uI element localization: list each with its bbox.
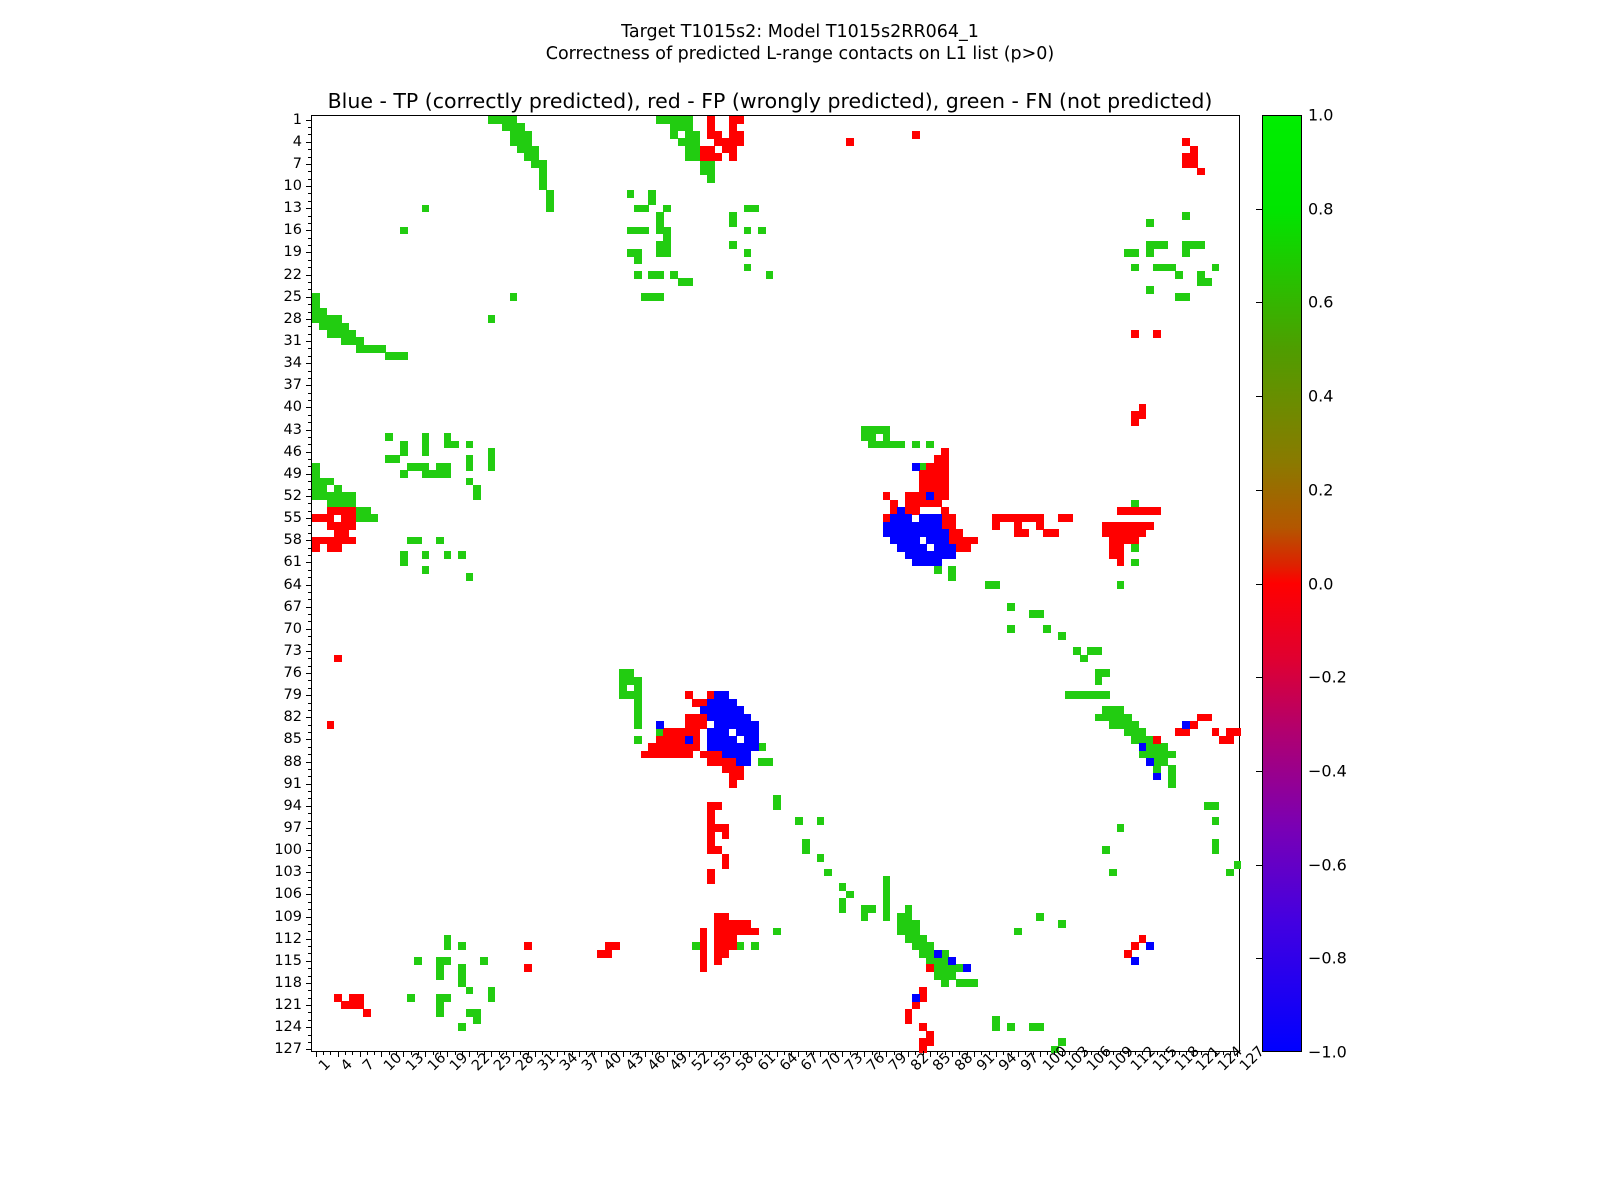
contact-cell-fn xyxy=(1058,632,1066,640)
y-tick xyxy=(306,651,312,652)
y-tick xyxy=(308,1020,312,1021)
x-tick xyxy=(352,1051,353,1055)
contact-cell-fp xyxy=(700,964,708,972)
contact-cell-tp xyxy=(934,559,942,567)
y-tick xyxy=(308,511,312,512)
x-tick xyxy=(330,1051,331,1055)
x-tick xyxy=(360,1051,361,1057)
contact-cell-fp xyxy=(1131,330,1139,338)
x-tick-label-text: 37 xyxy=(579,1063,590,1074)
colorbar-tick xyxy=(1256,209,1262,210)
contact-cell-fn xyxy=(926,441,934,449)
x-tick-label-text: 25 xyxy=(491,1063,502,1074)
contact-cell-fp xyxy=(678,743,686,751)
y-tick xyxy=(306,496,312,497)
contact-cell-fn xyxy=(466,987,474,995)
contact-cell-fn xyxy=(444,470,452,478)
contact-cell-fn xyxy=(444,942,452,950)
x-tick-label-text: 13 xyxy=(403,1063,414,1074)
contact-cell-fn xyxy=(1212,264,1220,272)
y-tick xyxy=(308,393,312,394)
contact-cell-fn xyxy=(1182,212,1190,220)
x-tick-label-text: 10 xyxy=(381,1063,392,1074)
contact-cell-fn xyxy=(458,1023,466,1031)
y-tick xyxy=(308,489,312,490)
contact-cell-fp xyxy=(349,522,357,530)
x-tick xyxy=(579,1051,580,1057)
contact-cell-fp xyxy=(707,131,715,139)
y-tick-label-text: 61 xyxy=(284,554,302,570)
x-tick-label-text: 31 xyxy=(535,1063,546,1074)
contact-cell-fn xyxy=(1168,780,1176,788)
contact-cell-fn xyxy=(407,994,415,1002)
contact-cell-fp xyxy=(751,928,759,936)
y-tick xyxy=(306,164,312,165)
x-tick xyxy=(367,1051,368,1055)
contact-cell-fn xyxy=(444,994,452,1002)
contact-cell-fn xyxy=(1212,846,1220,854)
contact-cell-fn xyxy=(371,514,379,522)
contact-cell-fn xyxy=(1197,241,1205,249)
contact-cell-fn xyxy=(1131,264,1139,272)
contact-cell-fp xyxy=(1117,559,1125,567)
contact-cell-fn xyxy=(488,463,496,471)
x-tick-label-text: 1 xyxy=(316,1063,327,1074)
contact-cell-fn xyxy=(970,979,978,987)
y-tick-label-text: 79 xyxy=(284,687,302,703)
contact-cell-fn xyxy=(897,441,905,449)
y-tick xyxy=(308,312,312,313)
x-tick-label-text: 112 xyxy=(1128,1063,1139,1074)
y-tick xyxy=(308,732,312,733)
x-tick-label-text: 46 xyxy=(645,1063,656,1074)
contact-cell-fp xyxy=(524,964,532,972)
x-tick xyxy=(403,1051,404,1057)
contact-cell-fn xyxy=(480,957,488,965)
contact-cell-fn xyxy=(795,817,803,825)
y-tick xyxy=(308,909,312,910)
contact-cell-fn xyxy=(1007,603,1015,611)
contact-cell-fn xyxy=(1095,647,1103,655)
x-tick xyxy=(777,1051,778,1057)
x-tick-label-text: 4 xyxy=(338,1063,349,1074)
x-tick-label-text: 58 xyxy=(733,1063,744,1074)
x-tick xyxy=(820,1051,821,1057)
contact-cell-fp xyxy=(1131,942,1139,950)
y-tick-label-text: 25 xyxy=(284,289,302,305)
y-tick xyxy=(308,953,312,954)
x-tick-label-text: 97 xyxy=(1018,1063,1029,1074)
contact-cell-fn xyxy=(817,854,825,862)
contact-cell-fp xyxy=(729,942,737,950)
y-tick xyxy=(306,762,312,763)
contact-cell-fn xyxy=(634,271,642,279)
contact-cell-fn xyxy=(1146,286,1154,294)
contact-cell-fn xyxy=(1036,913,1044,921)
colorbar-tick xyxy=(1256,865,1262,866)
y-tick xyxy=(308,946,312,947)
y-tick xyxy=(306,430,312,431)
y-tick xyxy=(308,865,312,866)
y-tick xyxy=(308,437,312,438)
x-tick xyxy=(1018,1051,1019,1057)
y-tick-label-text: 46 xyxy=(284,444,302,460)
y-tick xyxy=(306,142,312,143)
colorbar-tick-label: −0.8 xyxy=(1308,949,1347,968)
contact-cell-fn xyxy=(634,256,642,264)
contact-cell-fn xyxy=(1109,869,1117,877)
contact-cell-fn xyxy=(1146,249,1154,257)
y-tick xyxy=(306,673,312,674)
x-tick xyxy=(557,1051,558,1057)
x-tick xyxy=(381,1051,382,1057)
y-tick-label-text: 88 xyxy=(284,754,302,770)
contact-cell-fp xyxy=(729,153,737,161)
y-tick xyxy=(308,378,312,379)
x-tick xyxy=(689,1051,690,1057)
x-tick xyxy=(974,1051,975,1057)
contact-cell-fp xyxy=(1022,529,1030,537)
contact-cell-fn xyxy=(744,249,752,257)
y-tick xyxy=(308,459,312,460)
contact-cell-fp xyxy=(926,1038,934,1046)
y-tick xyxy=(306,474,312,475)
x-tick xyxy=(1040,1051,1041,1057)
contact-cell-fn xyxy=(751,942,759,950)
y-tick xyxy=(308,902,312,903)
figure-title-line1: Target T1015s2: Model T1015s2RR064_1 xyxy=(0,22,1600,42)
y-tick xyxy=(306,1005,312,1006)
colorbar-tick-label: 0.6 xyxy=(1308,293,1333,312)
contact-cell-fn xyxy=(875,441,883,449)
contact-cell-fp xyxy=(327,721,335,729)
y-tick xyxy=(306,872,312,873)
y-tick xyxy=(308,857,312,858)
x-tick xyxy=(513,1051,514,1057)
y-tick-label-text: 103 xyxy=(274,864,302,880)
y-tick-label-text: 64 xyxy=(284,577,302,593)
x-tick xyxy=(623,1051,624,1057)
contact-cell-tp xyxy=(948,551,956,559)
colorbar-tick-label: −0.6 xyxy=(1308,855,1347,874)
y-tick xyxy=(308,754,312,755)
contact-cell-fp xyxy=(714,957,722,965)
contact-cell-fn xyxy=(992,581,1000,589)
contact-cell-fn xyxy=(466,573,474,581)
y-tick xyxy=(306,828,312,829)
contact-cell-fp xyxy=(1197,168,1205,176)
contact-cell-fp xyxy=(1139,411,1147,419)
contact-cell-fn xyxy=(1182,249,1190,257)
contact-cell-fn xyxy=(414,537,422,545)
contact-cell-fn xyxy=(1043,625,1051,633)
y-tick-label-text: 22 xyxy=(284,267,302,283)
x-tick-label-text: 121 xyxy=(1193,1063,1204,1074)
y-tick-label-text: 37 xyxy=(284,377,302,393)
contact-map-plot[interactable]: 1471013161922252831343740434649525558616… xyxy=(311,115,1240,1052)
contact-cell-fn xyxy=(729,241,737,249)
contact-cell-tp xyxy=(656,721,664,729)
contact-cell-fn xyxy=(1131,544,1139,552)
contact-cell-fn xyxy=(510,293,518,301)
y-tick xyxy=(308,1042,312,1043)
contact-cell-fn xyxy=(634,736,642,744)
contact-cell-fn xyxy=(1095,677,1103,685)
x-tick-label-text: 106 xyxy=(1084,1063,1095,1074)
y-tick xyxy=(308,348,312,349)
y-tick-label-text: 121 xyxy=(274,997,302,1013)
y-tick-label-text: 40 xyxy=(284,399,302,415)
y-tick xyxy=(308,481,312,482)
y-tick xyxy=(306,540,312,541)
contact-cell-tp xyxy=(912,994,920,1002)
contact-cell-fp xyxy=(905,1016,913,1024)
contact-cell-fp xyxy=(934,485,942,493)
y-tick xyxy=(306,275,312,276)
colorbar-gradient xyxy=(1263,116,1301,1051)
contact-cell-tp xyxy=(751,743,759,751)
contact-cell-fn xyxy=(1117,581,1125,589)
y-tick xyxy=(308,776,312,777)
contact-cell-fn xyxy=(466,441,474,449)
y-tick-label-text: 43 xyxy=(284,422,302,438)
y-tick xyxy=(306,120,312,121)
x-tick-label-text: 7 xyxy=(360,1063,371,1074)
contact-cell-tp xyxy=(1146,942,1154,950)
x-tick xyxy=(491,1051,492,1057)
contact-cell-fp xyxy=(707,876,715,884)
y-tick xyxy=(308,1035,312,1036)
contact-cell-tp xyxy=(926,492,934,500)
y-tick xyxy=(306,739,312,740)
contact-cell-fp xyxy=(714,802,722,810)
contact-cell-fp xyxy=(846,138,854,146)
colorbar-tick-label: −1.0 xyxy=(1308,1043,1347,1062)
y-tick xyxy=(308,400,312,401)
y-tick xyxy=(308,127,312,128)
contact-cell-fn xyxy=(744,264,752,272)
contact-cell-fn xyxy=(422,448,430,456)
contact-cell-fp xyxy=(612,942,620,950)
contact-cell-fn xyxy=(488,994,496,1002)
contact-cell-fp xyxy=(992,522,1000,530)
contact-cell-fn xyxy=(707,175,715,183)
y-tick xyxy=(308,267,312,268)
y-tick xyxy=(308,990,312,991)
y-tick xyxy=(306,961,312,962)
y-tick-label-text: 124 xyxy=(274,1019,302,1035)
contact-cell-fp xyxy=(941,478,949,486)
contact-cell-fn xyxy=(466,463,474,471)
y-tick xyxy=(308,821,312,822)
y-tick xyxy=(308,688,312,689)
contact-cell-fn xyxy=(773,928,781,936)
y-tick-label-text: 94 xyxy=(284,798,302,814)
y-tick-label-text: 115 xyxy=(274,953,302,969)
contact-cell-fn xyxy=(634,721,642,729)
y-tick-label-text: 100 xyxy=(274,842,302,858)
contact-cell-fn xyxy=(422,205,430,213)
y-tick xyxy=(308,466,312,467)
y-tick xyxy=(308,680,312,681)
contact-cell-fn xyxy=(385,433,393,441)
y-tick-label-text: 85 xyxy=(284,731,302,747)
y-tick-label-text: 106 xyxy=(274,886,302,902)
contact-cell-fn xyxy=(883,426,891,434)
y-tick xyxy=(308,1012,312,1013)
x-tick xyxy=(886,1051,887,1057)
contact-cell-fn xyxy=(444,957,452,965)
contact-cell-fp xyxy=(524,942,532,950)
y-tick xyxy=(308,725,312,726)
colorbar-tick xyxy=(1256,490,1262,491)
y-tick xyxy=(306,717,312,718)
x-tick-label-text: 28 xyxy=(513,1063,524,1074)
y-tick-label-text: 7 xyxy=(293,156,302,172)
contact-cell-fp xyxy=(970,537,978,545)
contact-cell-fn xyxy=(1234,861,1242,869)
y-tick xyxy=(308,201,312,202)
y-tick xyxy=(306,363,312,364)
contact-cell-fn xyxy=(1161,241,1169,249)
y-tick xyxy=(308,444,312,445)
x-tick-label-text: 43 xyxy=(623,1063,634,1074)
contact-cell-fn xyxy=(546,205,554,213)
y-tick-label-text: 49 xyxy=(284,466,302,482)
contact-cell-fn xyxy=(1014,928,1022,936)
contact-cell-fn xyxy=(839,905,847,913)
colorbar-tick-label: 1.0 xyxy=(1308,106,1333,125)
colorbar-tick-label: 0.4 xyxy=(1308,387,1333,406)
colorbar-tick-label: −0.2 xyxy=(1308,668,1347,687)
y-tick xyxy=(308,592,312,593)
contact-cell-fn xyxy=(422,551,430,559)
y-tick-label-text: 31 xyxy=(284,333,302,349)
y-tick xyxy=(306,208,312,209)
x-tick-label-text: 85 xyxy=(930,1063,941,1074)
contact-cell-fn xyxy=(1117,824,1125,832)
contact-cell-fn xyxy=(1175,271,1183,279)
colorbar-tick xyxy=(1256,677,1262,678)
contact-cell-fn xyxy=(436,972,444,980)
x-tick-label-text: 100 xyxy=(1040,1063,1051,1074)
y-tick xyxy=(306,983,312,984)
contact-cell-fp xyxy=(1204,714,1212,722)
y-tick xyxy=(308,555,312,556)
y-tick xyxy=(308,149,312,150)
colorbar-tick xyxy=(1256,302,1262,303)
contact-cell-fp xyxy=(722,861,730,869)
contact-cell-fp xyxy=(1065,514,1073,522)
contact-cell-fn xyxy=(400,352,408,360)
y-tick-label-text: 4 xyxy=(293,134,302,150)
contact-cell-fp xyxy=(1000,514,1008,522)
y-tick xyxy=(308,791,312,792)
contact-cell-fn xyxy=(751,205,759,213)
contact-cell-tp xyxy=(912,463,920,471)
y-tick xyxy=(306,695,312,696)
contact-cell-fn xyxy=(473,492,481,500)
contact-cell-fp xyxy=(722,832,730,840)
y-tick xyxy=(308,171,312,172)
x-tick xyxy=(447,1051,448,1057)
y-tick-label-text: 52 xyxy=(284,488,302,504)
contact-cell-fp xyxy=(926,964,934,972)
contact-cell-fp xyxy=(912,1001,920,1009)
y-tick-label-text: 13 xyxy=(284,200,302,216)
y-tick xyxy=(306,385,312,386)
contact-cell-fn xyxy=(414,957,422,965)
x-tick xyxy=(996,1051,997,1057)
x-tick-label-text: 109 xyxy=(1106,1063,1117,1074)
y-tick-label-text: 112 xyxy=(274,931,302,947)
y-tick xyxy=(308,621,312,622)
contact-cell-fn xyxy=(1102,691,1110,699)
y-tick-label-text: 58 xyxy=(284,532,302,548)
contact-cell-fn xyxy=(846,891,854,899)
x-tick-label-text: 40 xyxy=(601,1063,612,1074)
contact-cell-fp xyxy=(334,655,342,663)
x-tick-label-text: 52 xyxy=(689,1063,700,1074)
y-tick xyxy=(306,407,312,408)
x-tick-label-text: 91 xyxy=(974,1063,985,1074)
y-tick-label-text: 28 xyxy=(284,311,302,327)
contact-cell-fn xyxy=(400,470,408,478)
x-tick xyxy=(338,1051,339,1057)
colorbar-tick xyxy=(1256,958,1262,959)
contact-cell-fp xyxy=(919,1023,927,1031)
y-tick xyxy=(308,245,312,246)
x-tick-label-text: 94 xyxy=(996,1063,1007,1074)
x-tick-label-text: 88 xyxy=(952,1063,963,1074)
contact-cell-fp xyxy=(319,537,327,545)
x-tick-label-text: 115 xyxy=(1150,1063,1161,1074)
contact-cell-fn xyxy=(458,551,466,559)
x-tick-label-text: 124 xyxy=(1215,1063,1226,1074)
contact-cell-fn xyxy=(824,869,832,877)
y-tick xyxy=(308,614,312,615)
x-tick xyxy=(323,1051,324,1055)
y-tick-label-text: 34 xyxy=(284,355,302,371)
contact-cell-fp xyxy=(1131,418,1139,426)
colorbar-tick xyxy=(1256,396,1262,397)
contact-cell-fn xyxy=(941,979,949,987)
contact-cell-fn xyxy=(392,455,400,463)
y-tick xyxy=(306,186,312,187)
contact-cell-fp xyxy=(729,780,737,788)
x-tick xyxy=(469,1051,470,1057)
x-tick xyxy=(864,1051,865,1057)
x-tick xyxy=(798,1051,799,1057)
y-tick xyxy=(308,998,312,999)
contact-cell-tp xyxy=(1139,743,1147,751)
contact-cell-fn xyxy=(1168,751,1176,759)
x-tick-label-text: 127 xyxy=(1237,1063,1248,1074)
contact-cell-fn xyxy=(648,197,656,205)
y-tick-label-text: 1 xyxy=(293,112,302,128)
x-tick-label-text: 22 xyxy=(469,1063,480,1074)
y-tick xyxy=(308,843,312,844)
y-tick xyxy=(306,585,312,586)
contact-cell-fn xyxy=(619,691,627,699)
y-tick-label-text: 70 xyxy=(284,621,302,637)
contact-cell-fn xyxy=(1204,278,1212,286)
y-tick-label-text: 76 xyxy=(284,665,302,681)
contact-map-cells xyxy=(312,116,1239,1051)
y-tick xyxy=(308,304,312,305)
contact-cell-fn xyxy=(444,551,452,559)
contact-cell-fn xyxy=(736,942,744,950)
